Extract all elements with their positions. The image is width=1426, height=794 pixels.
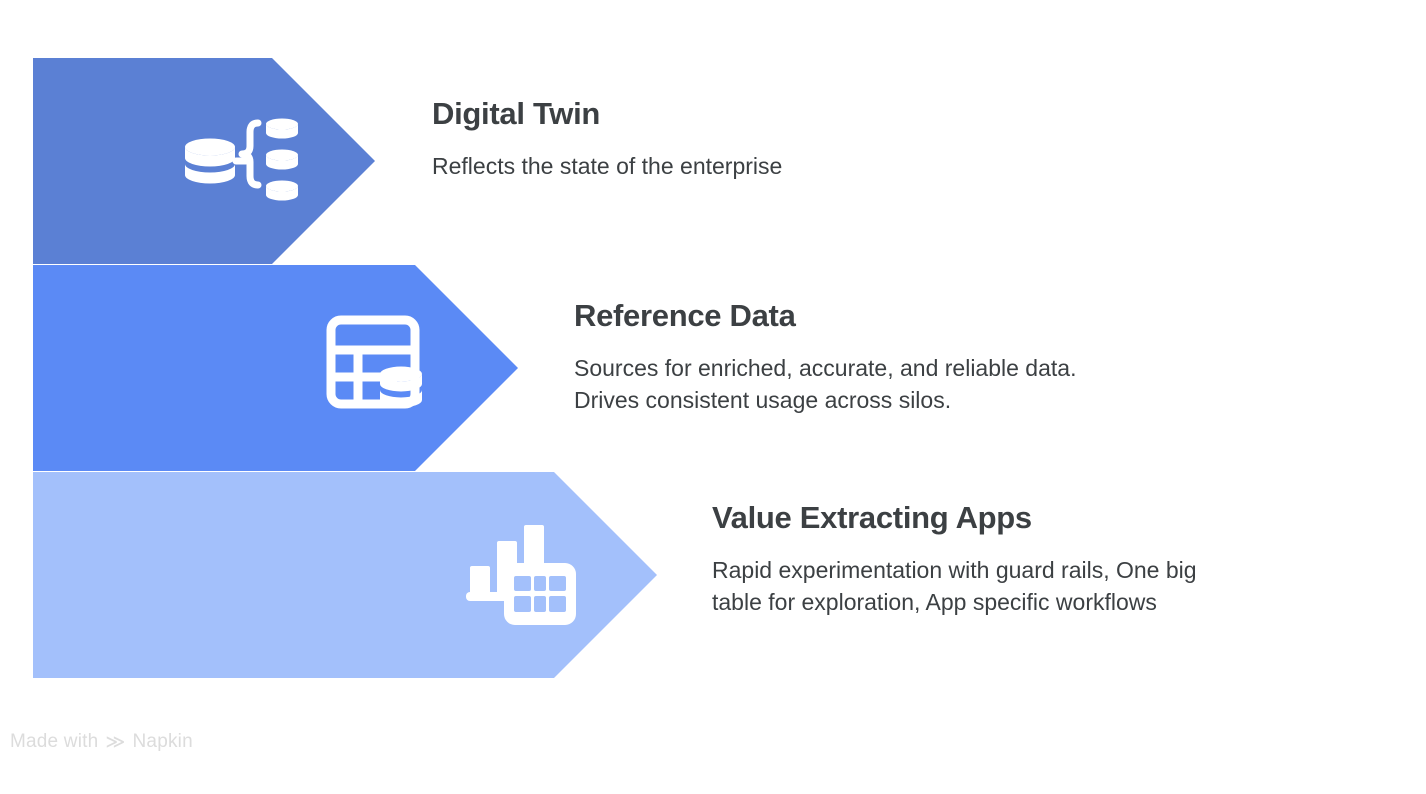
chevron-row-value-extracting-apps[interactable]: Value Extracting Apps Rapid experimentat…: [0, 472, 1426, 678]
database-branch-icon: [182, 111, 300, 211]
row-heading: Reference Data: [574, 298, 1076, 334]
row-text-block: Reference Data Sources for enriched, acc…: [574, 298, 1076, 417]
diagram-canvas: Digital Twin Reflects the state of the e…: [0, 0, 1426, 794]
watermark-prefix: Made with: [10, 731, 98, 753]
row-heading: Value Extracting Apps: [712, 500, 1197, 536]
napkin-logo-icon: ≫: [105, 733, 125, 752]
watermark-brand: Napkin: [133, 731, 193, 753]
row-body: Rapid experimentation with guard rails, …: [712, 554, 1197, 619]
chevron-shape[interactable]: [33, 265, 518, 471]
bar-chart-grid-icon: [466, 523, 578, 627]
row-heading: Digital Twin: [432, 96, 782, 132]
napkin-watermark: Made with ≫ Napkin: [10, 731, 193, 753]
row-text-block: Value Extracting Apps Rapid experimentat…: [712, 500, 1197, 619]
chevron-row-digital-twin[interactable]: Digital Twin Reflects the state of the e…: [0, 58, 1426, 264]
row-body: Sources for enriched, accurate, and reli…: [574, 352, 1076, 417]
chevron-row-reference-data[interactable]: Reference Data Sources for enriched, acc…: [0, 265, 1426, 471]
row-text-block: Digital Twin Reflects the state of the e…: [432, 96, 782, 182]
table-database-icon: [325, 314, 435, 422]
row-body: Reflects the state of the enterprise: [432, 150, 782, 183]
